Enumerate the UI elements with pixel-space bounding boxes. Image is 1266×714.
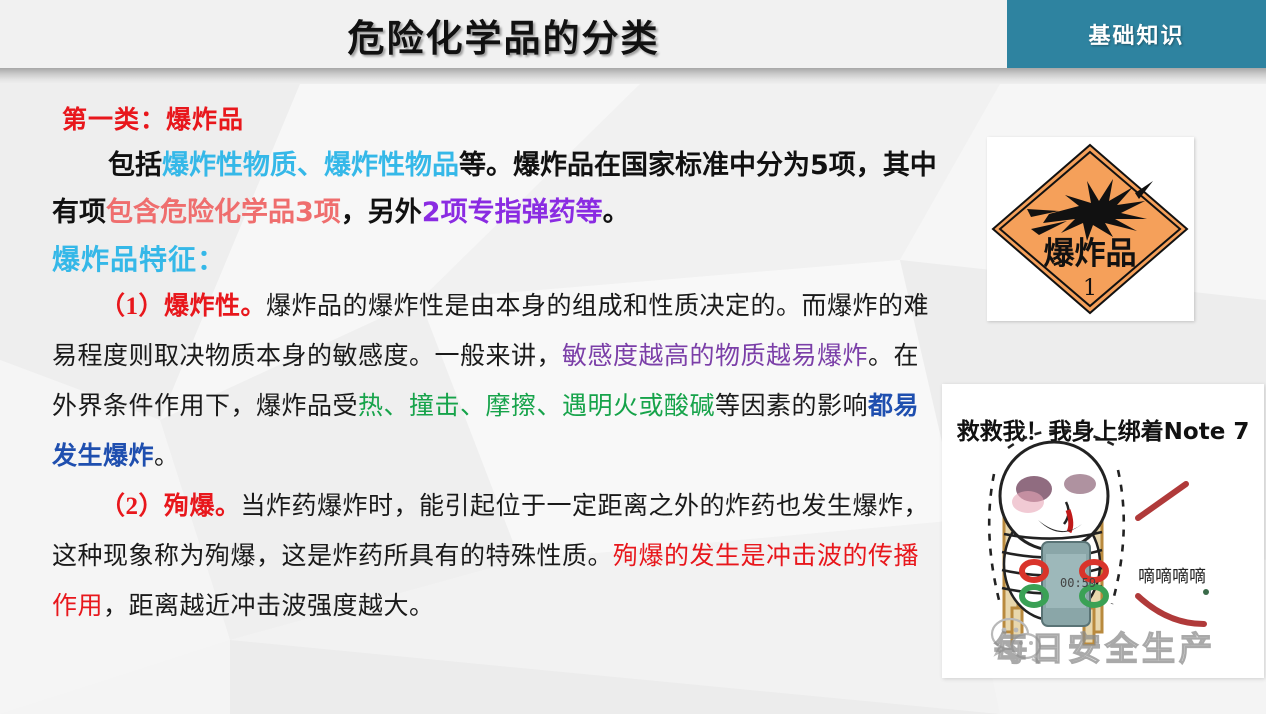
item1-highlight-green: 热、撞击、摩擦、遇明火或酸碱 bbox=[358, 393, 715, 420]
item1-label: （1）爆炸性。 bbox=[100, 293, 266, 320]
blood-drip bbox=[1068, 510, 1071, 532]
header-category-tag: 基础知识 bbox=[1007, 0, 1266, 68]
header-shadow bbox=[0, 68, 1266, 84]
para1-part1: 包括 bbox=[108, 150, 162, 181]
feature-heading: 爆炸品特征： bbox=[52, 238, 942, 278]
placard-diamond-icon: 爆炸品 1 bbox=[987, 137, 1194, 321]
placard-class-number: 1 bbox=[1083, 276, 1097, 301]
para1-part5: ，另外 bbox=[341, 197, 422, 228]
para1-part7: 。 bbox=[603, 197, 630, 228]
bruise-right bbox=[1064, 474, 1096, 494]
paragraph-explosives-intro: 包括爆炸性物质、爆炸性物品等。爆炸品在国家标准中分为5项，其中有项包含危险化学品… bbox=[52, 142, 942, 236]
phone-timer-text: 00:59 bbox=[1060, 576, 1096, 590]
watermark-text: 每日安全生产 bbox=[994, 622, 1264, 670]
paragraph-item-1: （1）爆炸性。爆炸品的爆炸性是由本身的组成和性质决定的。而爆炸的难易程度则取决物… bbox=[52, 282, 942, 482]
beep-sound-text: 嘀嘀嘀嘀 bbox=[1138, 562, 1206, 587]
item1-highlight-purple: 敏感度越高的物质越易爆炸 bbox=[562, 343, 868, 370]
slide-canvas: 危险化学品的分类 基础知识 第一类：爆炸品 包括爆炸性物质、爆炸性物品等。爆炸品… bbox=[0, 0, 1266, 714]
blush-left bbox=[1012, 491, 1044, 513]
placard-label: 爆炸品 bbox=[1044, 236, 1137, 272]
item2-part3: ，距离越近冲击波强度越大。 bbox=[103, 593, 435, 620]
explosive-hazard-placard: 爆炸品 1 bbox=[987, 137, 1194, 321]
para1-highlight-salmon: 包含危险化学品3项 bbox=[106, 197, 341, 228]
meme-illustration: 救救我！我身上绑着Note 7 bbox=[942, 384, 1264, 678]
slide-content: 第一类：爆炸品 包括爆炸性物质、爆炸性物品等。爆炸品在国家标准中分为5项，其中有… bbox=[52, 100, 942, 632]
page-title: 危险化学品的分类 bbox=[0, 6, 1007, 64]
item2-label: （2）殉爆。 bbox=[100, 493, 241, 520]
beep-strokes bbox=[1138, 484, 1204, 624]
section-heading: 第一类：爆炸品 bbox=[62, 100, 942, 136]
item1-part5: 等因素的影响 bbox=[715, 393, 868, 420]
beep-dot bbox=[1203, 589, 1209, 595]
para1-highlight-purple: 2项专指弹药等 bbox=[422, 197, 603, 228]
item1-part7: 。 bbox=[154, 443, 180, 470]
para1-highlight-cyan: 爆炸性物质、爆炸性物品 bbox=[162, 150, 459, 181]
paragraph-item-2: （2）殉爆。当炸药爆炸时，能引起位于一定距离之外的炸药也发生爆炸，这种现象称为殉… bbox=[52, 482, 942, 632]
